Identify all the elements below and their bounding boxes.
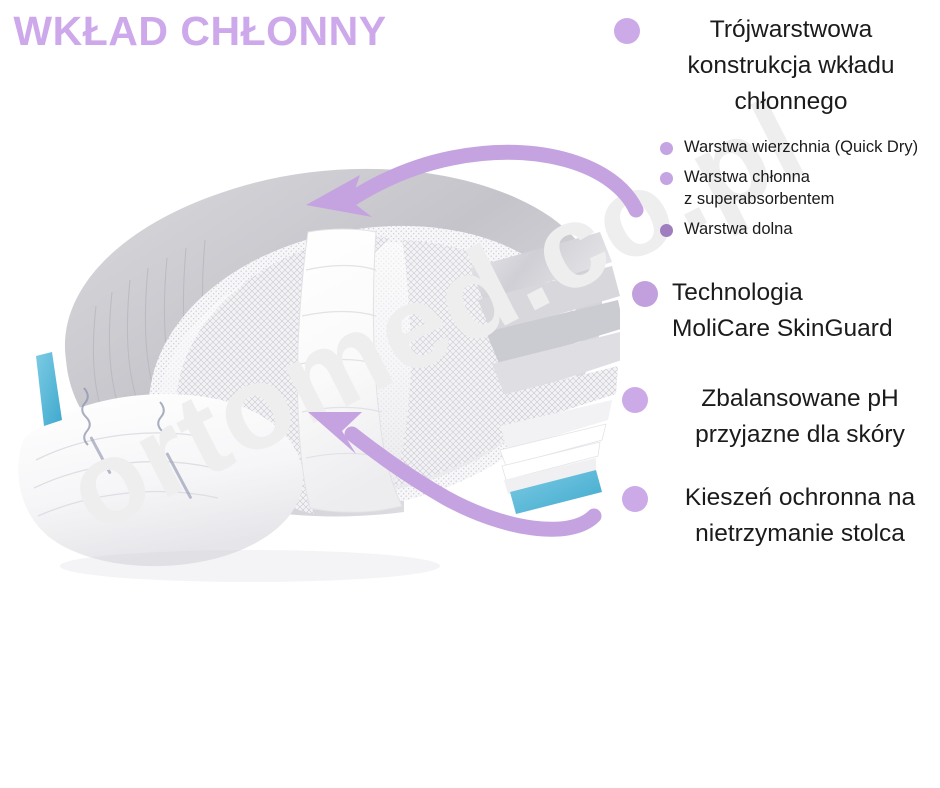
blue-tab-left	[36, 352, 62, 426]
sub-feature-item-bottom-layer[interactable]: Warstwa dolna	[660, 218, 940, 240]
feature-label: Technologia MoliCare SkinGuard	[672, 275, 940, 347]
bullet-icon	[660, 224, 673, 237]
feature-item-protective-pocket[interactable]: Kieszeń ochronna na nietrzymanie stolca	[616, 480, 940, 552]
sub-feature-item-top-layer[interactable]: Warstwa wierzchnia (Quick Dry)	[660, 136, 940, 158]
infographic-canvas: ortomed.co.pl WKŁAD CHŁONNY	[0, 0, 940, 788]
product-photo	[0, 120, 620, 590]
feature-label: Zbalansowane pH przyjazne dla skóry	[660, 381, 940, 453]
sub-feature-list: Warstwa wierzchnia (Quick Dry) Warstwa c…	[660, 136, 940, 248]
page-title: WKŁAD CHŁONNY	[10, 8, 390, 54]
feature-item-three-layer-construction[interactable]: Trójwarstwowa konstrukcja wkładu chłonne…	[608, 12, 940, 120]
feature-item-balanced-ph[interactable]: Zbalansowane pH przyjazne dla skóry	[616, 381, 940, 453]
bullet-icon	[622, 486, 648, 512]
sub-feature-item-absorbent-layer[interactable]: Warstwa chłonna z superabsorbentem	[660, 166, 940, 210]
bullet-icon	[632, 281, 658, 307]
bullet-icon	[614, 18, 640, 44]
sub-feature-label: Warstwa chłonna z superabsorbentem	[684, 166, 940, 210]
sub-feature-label: Warstwa wierzchnia (Quick Dry)	[684, 136, 940, 158]
feature-item-skinguard-technology[interactable]: Technologia MoliCare SkinGuard	[626, 275, 940, 347]
feature-label: Kieszeń ochronna na nietrzymanie stolca	[656, 480, 940, 552]
sub-feature-label: Warstwa dolna	[684, 218, 940, 240]
feature-label: Trójwarstwowa konstrukcja wkładu chłonne…	[646, 12, 936, 120]
feature-list: Trójwarstwowa konstrukcja wkładu chłonne…	[608, 0, 940, 600]
bullet-icon	[660, 142, 673, 155]
bullet-icon	[660, 172, 673, 185]
bullet-icon	[622, 387, 648, 413]
